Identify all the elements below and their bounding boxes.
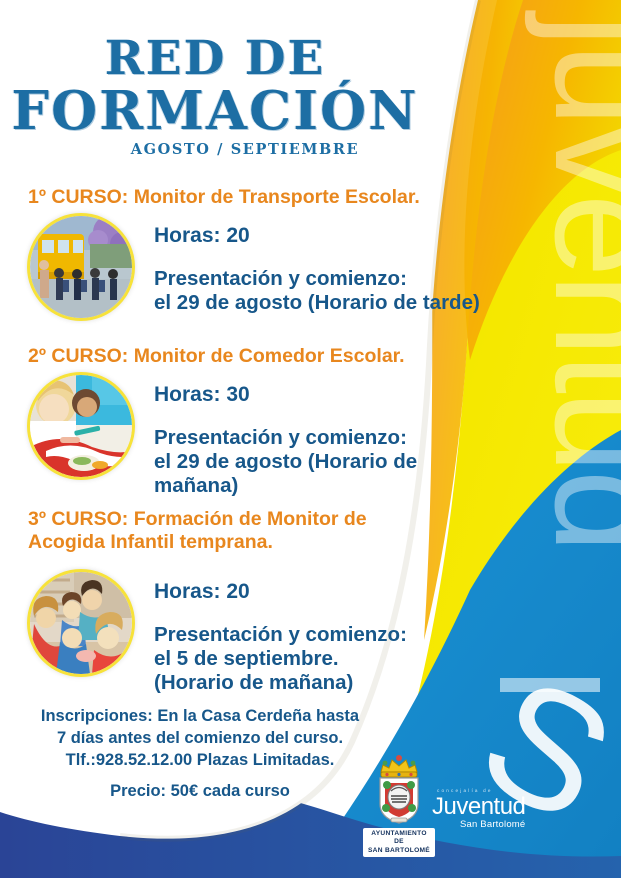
registration-line-2: 7 días antes del comienzo del curso. [0, 728, 400, 750]
children-dining-photo [30, 375, 132, 477]
poster-title-block: RED DE FORMACIÓN AGOSTO / SEPTIEMBRE [0, 36, 430, 158]
registration-line-3: Tlf.:928.52.12.00 Plazas Limitadas. [0, 750, 400, 772]
school-bus-children-photo [30, 216, 132, 318]
title-line-1: RED DE [0, 36, 430, 82]
course-2-hours: Horas: 30 [154, 383, 500, 406]
price-text: Precio: 50€ cada curso [0, 782, 400, 801]
course-3-title-line-1: 3º CURSO: Formación de Monitor de [28, 508, 500, 531]
course-2-title: 2º CURSO: Monitor de Comedor Escolar. [0, 345, 500, 368]
course-3-start-detail-line-2: (Horario de mañana) [154, 671, 407, 695]
course-block-2: 2º CURSO: Monitor de Comedor Escolar. [0, 345, 500, 497]
juventud-subtitle: San Bartolomé [432, 820, 525, 830]
ayuntamiento-line-1: AYUNTAMIENTO DE [366, 830, 432, 847]
coat-of-arms-icon [363, 752, 435, 826]
course-3-title-line-2: Acogida Infantil temprana. [28, 531, 500, 554]
course-2-start-detail: el 29 de agosto (Horario de mañana) [154, 450, 500, 498]
title-subtitle: AGOSTO / SEPTIEMBRE [60, 141, 430, 158]
course-block-1: 1º CURSO: Monitor de Transporte Escolar. [0, 186, 500, 318]
registration-info: Inscripciones: En la Casa Cerdeña hasta … [0, 706, 400, 772]
course-1-title: 1º CURSO: Monitor de Transporte Escolar. [0, 186, 500, 209]
juventud-wordmark: Juventud [432, 795, 525, 819]
registration-line-1: Inscripciones: En la Casa Cerdeña hasta [0, 706, 400, 728]
ayuntamiento-label: AYUNTAMIENTO DE SAN BARTOLOMÉ [363, 828, 435, 857]
title-line-2: FORMACIÓN [0, 86, 430, 138]
course-3-start-detail-line-1: el 5 de septiembre. [154, 647, 407, 671]
course-3-title: 3º CURSO: Formación de Monitor de Acogid… [0, 508, 500, 554]
course-block-3: 3º CURSO: Formación de Monitor de Acogid… [0, 508, 500, 694]
juventud-logo: concejalía de Juventud San Bartolomé [432, 789, 525, 829]
course-1-hours: Horas: 20 [154, 224, 480, 247]
ayuntamiento-logo: AYUNTAMIENTO DE SAN BARTOLOMÉ [363, 752, 435, 857]
children-playing-photo [30, 572, 132, 674]
course-2-start-label: Presentación y comienzo: [154, 426, 500, 450]
poster-root: juventud S RED DE FORMACIÓN AGOSTO / SEP… [0, 0, 621, 878]
course-3-start-label: Presentación y comienzo: [154, 623, 407, 647]
course-1-start-detail: el 29 de agosto (Horario de tarde) [154, 291, 480, 315]
course-1-start-label: Presentación y comienzo: [154, 267, 480, 291]
ayuntamiento-line-2: SAN BARTOLOMÉ [366, 847, 432, 855]
course-3-hours: Horas: 20 [154, 580, 407, 603]
